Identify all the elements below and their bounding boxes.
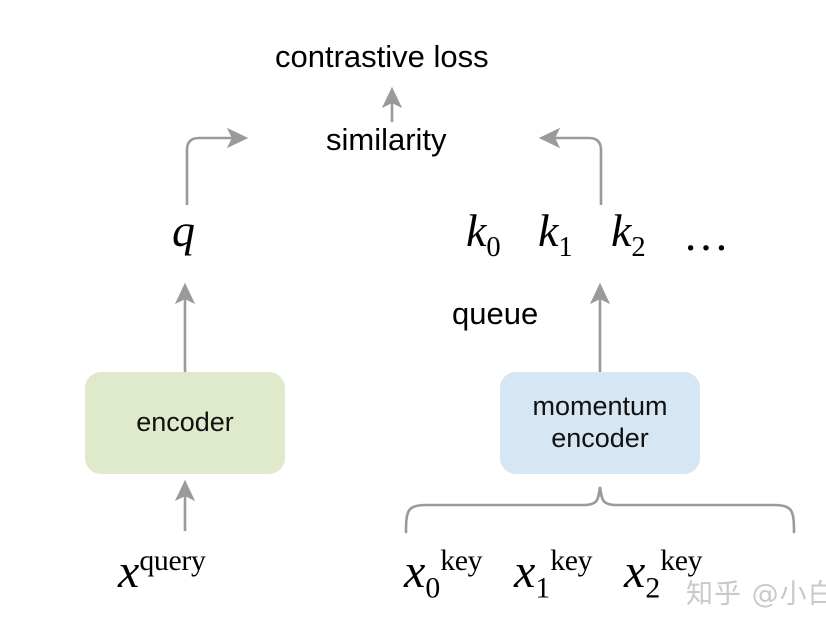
contrastive-loss-label: contrastive loss	[275, 41, 489, 72]
x-key0-subscript: 0	[425, 572, 440, 605]
k2-subscript: 2	[631, 232, 645, 263]
k1-base: k	[538, 205, 558, 256]
watermark: 知乎 @小白	[686, 572, 826, 611]
key-inputs-brace	[406, 487, 794, 532]
encoder-box[interactable]: encoder	[85, 372, 285, 474]
input-x-key-1: x1key	[514, 546, 592, 603]
diagram-canvas: contrastive loss similarity queue q k0 k…	[0, 0, 826, 634]
encoder-box-label: encoder	[136, 407, 234, 439]
x-key1-subscript: 1	[535, 572, 550, 605]
key-vector-k1: k1	[538, 208, 573, 263]
x-key2-subscript: 2	[645, 572, 660, 605]
momentum-encoder-box[interactable]: momentum encoder	[500, 372, 700, 474]
momentum-encoder-label-line2: encoder	[551, 423, 649, 455]
x-key0-base: x	[404, 545, 425, 598]
x-key1-base: x	[514, 545, 535, 598]
x-query-superscript: query	[139, 544, 205, 577]
arrow-keys-to-similarity	[544, 138, 601, 205]
queue-label: queue	[452, 298, 538, 329]
x-key1-superscript: key	[550, 544, 592, 577]
input-x-query: xquery	[118, 546, 206, 596]
k2-base: k	[611, 205, 631, 256]
connector-layer	[0, 0, 826, 634]
k0-base: k	[466, 205, 486, 256]
key-vector-k0: k0	[466, 208, 501, 263]
input-x-key-0: x0key	[404, 546, 482, 603]
arrow-q-to-similarity	[187, 138, 243, 205]
momentum-encoder-label-line1: momentum	[532, 391, 667, 423]
key-vector-k2: k2	[611, 208, 646, 263]
k1-subscript: 1	[558, 232, 572, 263]
key-vector-ellipsis: …	[683, 212, 729, 258]
q-symbol: q	[172, 208, 195, 254]
x-key0-superscript: key	[440, 544, 482, 577]
similarity-label: similarity	[326, 124, 447, 155]
k0-subscript: 0	[486, 232, 500, 263]
x-key2-base: x	[624, 545, 645, 598]
x-query-base: x	[118, 545, 139, 598]
